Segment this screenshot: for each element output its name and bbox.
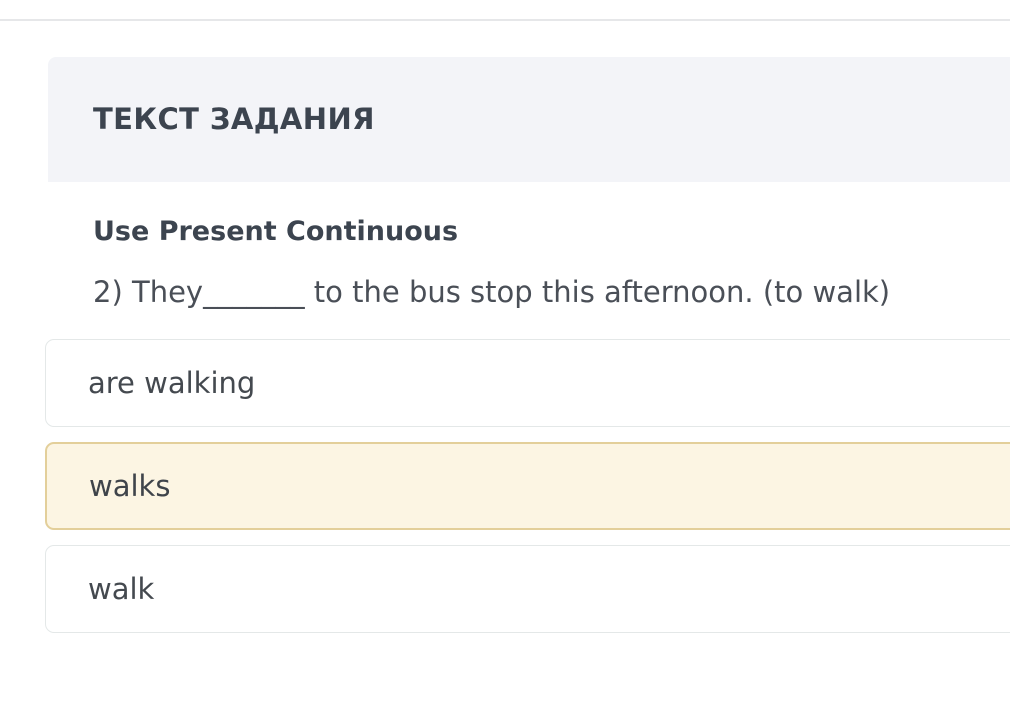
answer-option-label: walks — [89, 472, 170, 501]
task-card-header: ТЕКСТ ЗАДАНИЯ — [48, 57, 1010, 182]
answer-option-label: are walking — [88, 369, 255, 398]
top-divider — [0, 19, 1010, 21]
answer-option-selected[interactable]: walks — [45, 442, 1010, 530]
answer-option-label: walk — [88, 575, 154, 604]
answer-option[interactable]: walk — [45, 545, 1010, 633]
question-text: 2) They_______ to the bus stop this afte… — [93, 268, 958, 317]
prompt-heading: Use Present Continuous — [93, 216, 1010, 248]
task-card-body: Use Present Continuous 2) They_______ to… — [48, 182, 1010, 633]
answer-options-list: are walking walks walk — [93, 339, 1010, 633]
page-title: ТЕКСТ ЗАДАНИЯ — [93, 105, 375, 134]
task-card: ТЕКСТ ЗАДАНИЯ Use Present Continuous 2) … — [48, 57, 1010, 648]
task-page: ТЕКСТ ЗАДАНИЯ Use Present Continuous 2) … — [0, 0, 1010, 727]
answer-option[interactable]: are walking — [45, 339, 1010, 427]
